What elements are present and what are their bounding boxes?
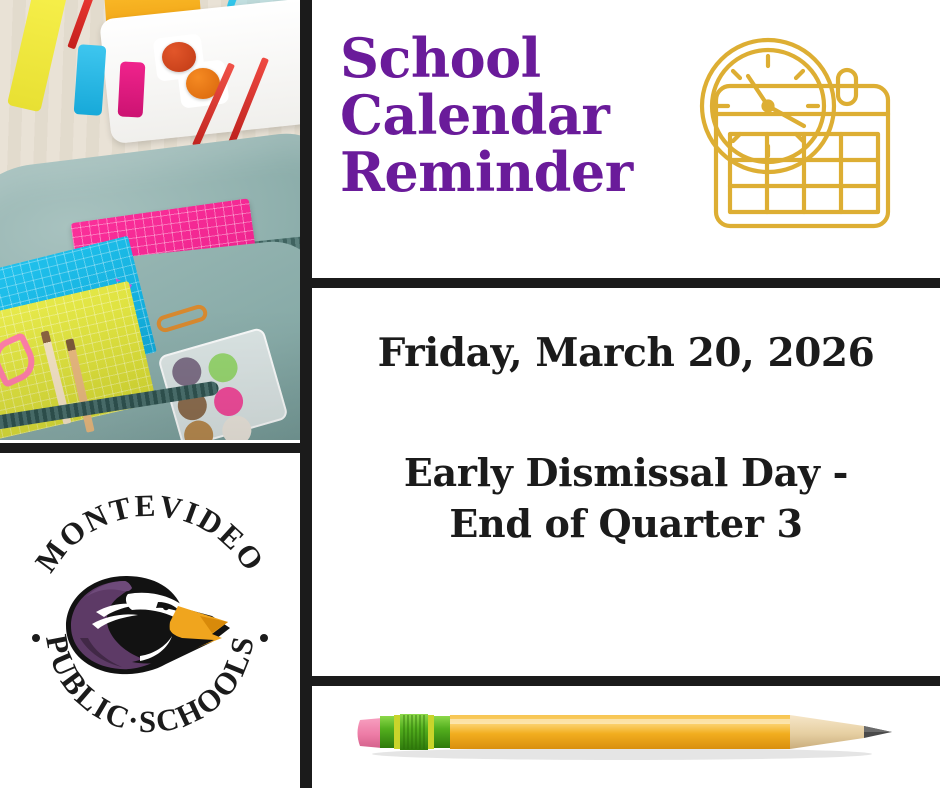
logo-top-text: MONTEVIDEO [28,488,272,578]
school-calendar-reminder-poster: MONTEVIDEO PUBLIC·SCHOOLS [0,0,940,788]
details-section: Friday, March 20, 2026 Early Dismissal D… [312,288,940,676]
left-column: MONTEVIDEO PUBLIC·SCHOOLS [0,0,300,788]
pencil-section [312,686,940,788]
school-supplies-backpack-photo [0,0,300,440]
yellow-pencil-image [352,698,912,768]
svg-text:MONTEVIDEO: MONTEVIDEO [28,488,272,578]
eagle-head-icon [62,572,238,678]
event-message: Early Dismissal Day - End of Quarter 3 [404,448,848,549]
title-line-1: School [340,30,700,87]
page-title: School Calendar Reminder [340,30,700,202]
clock-calendar-icon [680,22,930,258]
event-message-line-1: Early Dismissal Day - [404,448,848,499]
event-date: Friday, March 20, 2026 [378,330,875,376]
photo-vignette [0,0,300,440]
divider-under-title [300,278,940,288]
divider-vertical [300,0,312,788]
logo-panel: MONTEVIDEO PUBLIC·SCHOOLS [0,455,300,788]
event-message-line-2: End of Quarter 3 [404,499,848,550]
logo-separator-dot [260,634,268,642]
title-line-3: Reminder [340,144,700,201]
title-section: School Calendar Reminder [312,0,940,278]
divider-above-pencil [300,676,940,686]
divider-left-horizontal [0,443,312,453]
title-line-2: Calendar [340,87,700,144]
montevideo-public-schools-logo: MONTEVIDEO PUBLIC·SCHOOLS [16,488,284,756]
logo-separator-dot [32,634,40,642]
right-column: School Calendar Reminder [312,0,940,788]
